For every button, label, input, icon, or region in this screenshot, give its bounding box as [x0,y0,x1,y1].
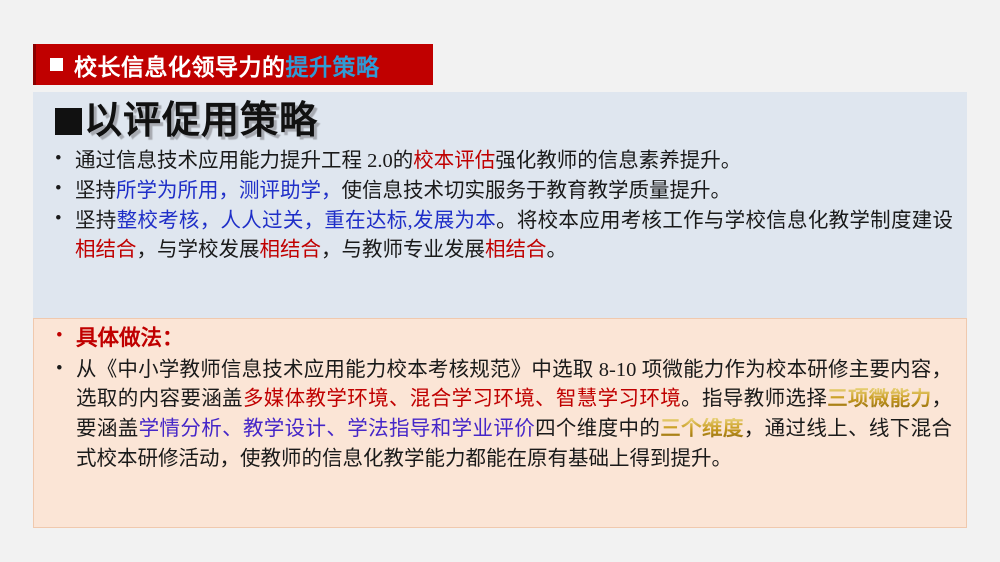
run-text-red: 相结合 [485,239,547,261]
run-text: 四个维度中的 [535,418,660,440]
run-text-red: 相结合 [75,239,137,261]
run-text: 。指导教师选择 [681,388,827,410]
header-banner: 校长信息化领导力的提升策略 [33,44,433,85]
banner-title: 校长信息化领导力的提升策略 [74,48,380,82]
run-text-red: 校本评估 [413,150,495,172]
run-text-red: 多媒体教学环境、混合学习环境、智慧学习环境 [243,388,681,410]
list-item: 坚持整校考核，人人过关，重在达标,发展为本。将校本应用考核工作与学校信息化教学制… [47,207,953,265]
panel-strategy: 以评促用策略 通过信息技术应用能力提升工程 2.0的校本评估强化教师的信息素养提… [33,92,967,318]
panel-practice: 具体做法： 从《中小学教师信息技术应用能力校本考核规范》中选取 8-10 项微能… [33,318,967,528]
run-text-blue: 所学为所用，测评助学， [116,180,342,202]
run-text: 坚持 [75,180,116,202]
banner-title-plain: 校长信息化领导力的 [74,55,286,80]
strategy-bullet-list: 通过信息技术应用能力提升工程 2.0的校本评估强化教师的信息素养提升。 坚持所学… [47,147,953,265]
run-text-purple: 学情分析、教学设计、学法指导和学业评价 [139,418,535,440]
practice-bullet-list: 具体做法： 从《中小学教师信息技术应用能力校本考核规范》中选取 8-10 项微能… [48,323,952,475]
banner-title-accent: 提升策略 [286,55,380,80]
list-item: 具体做法： [48,323,952,355]
run-text-gold: 三项微能力 [827,388,931,410]
run-text: 强化教师的信息素养提升。 [495,150,741,172]
list-item: 通过信息技术应用能力提升工程 2.0的校本评估强化教师的信息素养提升。 [47,147,953,176]
page-title: 以评促用策略 [55,100,953,143]
run-text: ，与学校发展 [137,239,260,261]
run-text: 。将校本应用考核工作与学校信息化教学制度建设 [496,210,953,232]
slide-canvas: 校长信息化领导力的提升策略 以评促用策略 通过信息技术应用能力提升工程 2.0的… [0,0,1000,562]
black-square-icon [55,108,82,135]
page-title-text: 以评促用策略 [84,100,318,142]
white-square-icon [50,58,63,71]
run-text: 通过信息技术应用能力提升工程 2.0的 [75,150,413,172]
run-text-blue: 整校考核，人人过关，重在达标,发展为本 [117,210,497,232]
list-item: 从《中小学教师信息技术应用能力校本考核规范》中选取 8-10 项微能力作为校本研… [48,356,952,475]
run-text: 坚持 [75,210,117,232]
panel-strategy-inner: 以评促用策略 通过信息技术应用能力提升工程 2.0的校本评估强化教师的信息素养提… [33,92,967,265]
panel-practice-inner: 具体做法： 从《中小学教师信息技术应用能力校本考核规范》中选取 8-10 项微能… [34,319,966,475]
run-text: ，与教师专业发展 [321,239,485,261]
practice-heading: 具体做法： [76,326,184,350]
run-text-gold: 三个维度 [660,418,743,440]
list-item: 坚持所学为所用，测评助学，使信息技术切实服务于教育教学质量提升。 [47,177,953,206]
run-text-red: 相结合 [260,239,322,261]
run-text: 使信息技术切实服务于教育教学质量提升。 [342,180,732,202]
run-text: 。 [547,239,568,261]
